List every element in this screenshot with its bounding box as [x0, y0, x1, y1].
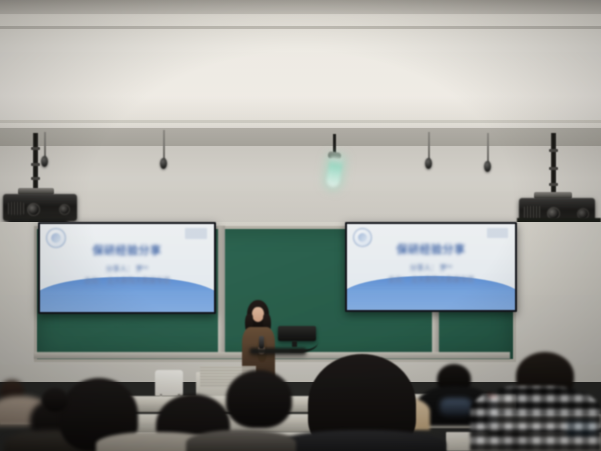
- projector-sensor-left: [59, 204, 70, 215]
- mic-rod-far-right: [487, 133, 489, 163]
- right-slide-sharer: 分享人： 罗**: [347, 263, 515, 273]
- audience-body-front-right: [186, 430, 296, 451]
- hanging-microphone-center-left: [160, 158, 167, 169]
- left-projection-screen[interactable]: 保研经验分享 分享人： 罗** 去向： 北大数院大数据专硕: [38, 222, 216, 314]
- mic-rod-right: [428, 132, 430, 160]
- projector-vent-left: [8, 202, 24, 215]
- projector-lens-left: [27, 203, 40, 216]
- left-slide-title: 保研经验分享: [40, 242, 214, 258]
- right-slide-destination: 去向： 北大数院大数据专硕: [347, 275, 515, 285]
- ceiling: [0, 0, 601, 133]
- left-slide-corner-badge: [185, 228, 207, 239]
- audience-hair-bun-left: [42, 388, 68, 412]
- mic-rod-left: [44, 132, 46, 158]
- ceiling-seam-upper: [0, 26, 601, 29]
- ceiling-seam-lower: [0, 120, 601, 123]
- lectern-cable: [250, 348, 306, 354]
- ceiling-beam: [0, 0, 601, 14]
- ceiling-projector-left: [3, 194, 77, 221]
- hanging-microphone-far-right: [484, 161, 491, 172]
- right-slide-corner-badge: [487, 228, 508, 238]
- right-projection-screen[interactable]: 保研经验分享 分享人： 罗** 去向： 北大数院大数据专硕: [345, 222, 517, 312]
- front-wall: [0, 146, 601, 226]
- right-slide: 保研经验分享 分享人： 罗** 去向： 北大数院大数据专硕: [347, 224, 515, 310]
- hanging-microphone-left: [41, 156, 48, 167]
- white-chair: [155, 370, 183, 396]
- projector-pole-left: [33, 133, 38, 191]
- hoodie-graphic-print: [440, 398, 472, 416]
- lecture-hall-photo: 保研经验分享 分享人： 罗** 去向： 北大数院大数据专硕 保研经验分享 分享人…: [0, 0, 601, 451]
- right-slide-title: 保研经验分享: [347, 241, 515, 257]
- audience-body-plaid-shirt: [470, 386, 601, 451]
- audience-head-front-right: [226, 370, 292, 428]
- left-slide: 保研经验分享 分享人： 罗** 去向： 北大数院大数据专硕: [40, 224, 214, 312]
- mic-rod-center-left: [163, 130, 165, 160]
- chalkboard-divider-left: [218, 226, 225, 356]
- left-slide-destination: 去向： 北大数院大数据专硕: [40, 276, 214, 286]
- hanging-microphone-right: [425, 158, 432, 169]
- audience-body-front-center: [278, 430, 446, 451]
- left-slide-sharer: 分享人： 罗**: [40, 264, 214, 274]
- projector-pole-right: [551, 133, 556, 195]
